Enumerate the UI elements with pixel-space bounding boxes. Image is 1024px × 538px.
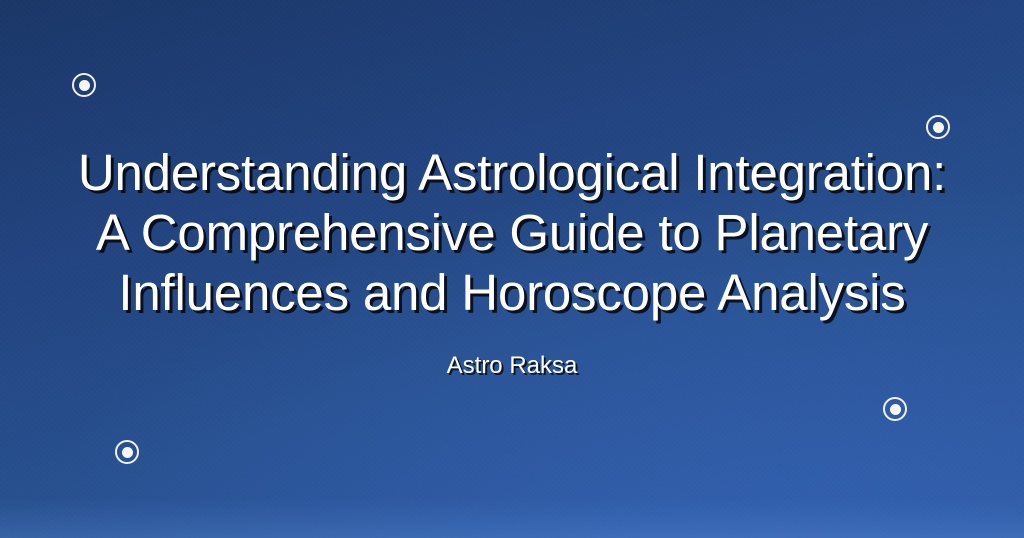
slide-text-block: Understanding Astrological Integration: … (0, 0, 1024, 538)
slide-title: Understanding Astrological Integration: … (62, 143, 962, 323)
slide-subtitle: Astro Raksa (447, 323, 578, 380)
title-slide: Understanding Astrological Integration: … (0, 0, 1024, 538)
